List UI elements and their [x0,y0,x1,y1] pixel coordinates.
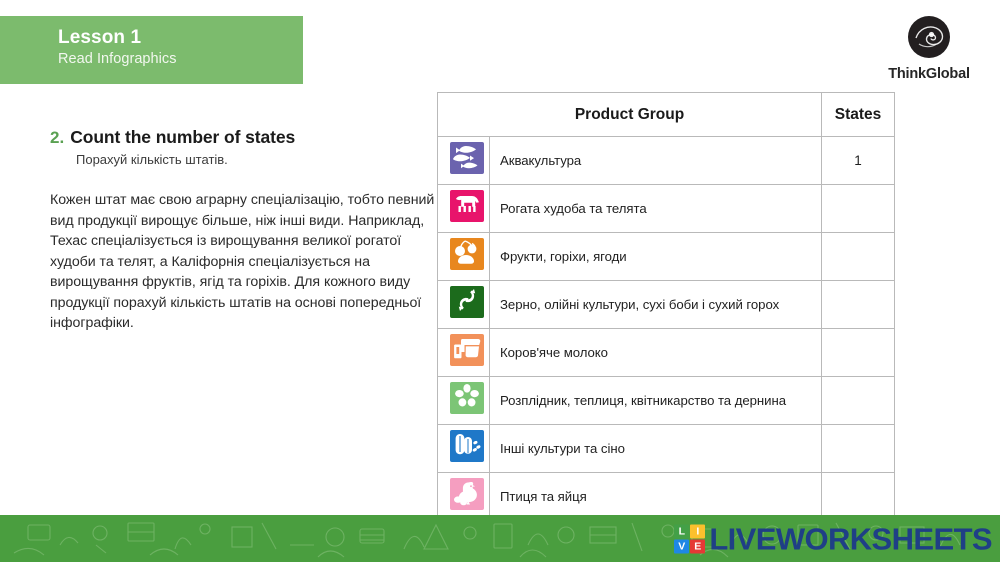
liveworksheets-wordmark: LIVEWORKSHEETS [709,523,992,554]
product-name-cell: Аквакультура [490,137,822,185]
states-answer-cell[interactable] [822,377,895,425]
product-icon-cell [438,281,490,329]
product-name-cell: Інші культури та сіно [490,425,822,473]
states-answer-cell[interactable] [822,233,895,281]
states-answer-cell[interactable] [822,281,895,329]
globe-icon [874,14,984,65]
product-table: Product Group States Аквакультура1Рогата… [437,92,895,562]
task-heading: 2.Count the number of states [50,127,440,148]
lesson-title: Lesson 1 [58,26,303,50]
liveworksheets-footer: LIVE LIVEWORKSHEETS [0,515,1000,562]
liveworksheets-brand: LIVE LIVEWORKSHEETS [674,523,992,554]
logo-text: ThinkGlobal [874,66,984,82]
grain-icon [450,286,484,318]
task-body-text: Кожен штат має свою аграрну спеціалізаці… [50,190,440,334]
product-icon-cell [438,329,490,377]
live-badge-letter: I [690,524,705,538]
product-icon-cell [438,425,490,473]
table-row: Розплідник, теплиця, квітникарство та де… [438,377,895,425]
header-product-group: Product Group [438,93,822,137]
table-row: Птиця та яйця [438,473,895,521]
live-badge-icon: LIVE [674,524,705,553]
table-header-row: Product Group States [438,93,895,137]
hay-icon [450,430,484,462]
product-icon-cell [438,233,490,281]
live-badge-letter: E [690,539,705,553]
task-subtitle: Порахуй кількість штатів. [76,151,440,168]
product-icon-cell [438,137,490,185]
product-table-wrapper: Product Group States Аквакультура1Рогата… [437,92,894,562]
poultry-icon [450,478,484,510]
milk-icon [450,334,484,366]
worksheet-page: Lesson 1 Read Infographics ThinkGlobal 2… [0,0,1000,562]
states-answer-cell[interactable] [822,425,895,473]
header-states: States [822,93,895,137]
states-answer-cell[interactable] [822,329,895,377]
table-body: Аквакультура1Рогата худоба та телятаФрук… [438,137,895,562]
product-icon-cell [438,185,490,233]
brand-logo: ThinkGlobal [874,14,984,82]
product-name-cell: Розплідник, теплиця, квітникарство та де… [490,377,822,425]
task-title: Count the number of states [70,127,295,147]
flower-icon [450,382,484,414]
table-row: Фрукти, горіхи, ягоди [438,233,895,281]
cow-icon [450,190,484,222]
table-row: Коров'яче молоко [438,329,895,377]
table-row: Аквакультура1 [438,137,895,185]
states-answer-cell[interactable] [822,185,895,233]
product-icon-cell [438,377,490,425]
product-name-cell: Фрукти, горіхи, ягоди [490,233,822,281]
product-name-cell: Коров'яче молоко [490,329,822,377]
task-number: 2. [50,128,64,147]
states-answer-cell[interactable]: 1 [822,137,895,185]
table-row: Рогата худоба та телята [438,185,895,233]
live-badge-letter: V [674,539,689,553]
product-name-cell: Рогата худоба та телята [490,185,822,233]
product-icon-cell [438,473,490,521]
fruit-icon [450,238,484,270]
product-name-cell: Птиця та яйця [490,473,822,521]
product-name-cell: Зерно, олійні культури, сухі боби і сухи… [490,281,822,329]
table-row: Інші культури та сіно [438,425,895,473]
live-badge-letter: L [674,524,689,538]
task-block: 2.Count the number of states Порахуй кіл… [50,127,440,334]
lesson-banner: Lesson 1 Read Infographics [0,16,303,84]
fish-icon [450,142,484,174]
states-answer-cell[interactable] [822,473,895,521]
lesson-subtitle: Read Infographics [58,50,303,69]
table-row: Зерно, олійні культури, сухі боби і сухи… [438,281,895,329]
